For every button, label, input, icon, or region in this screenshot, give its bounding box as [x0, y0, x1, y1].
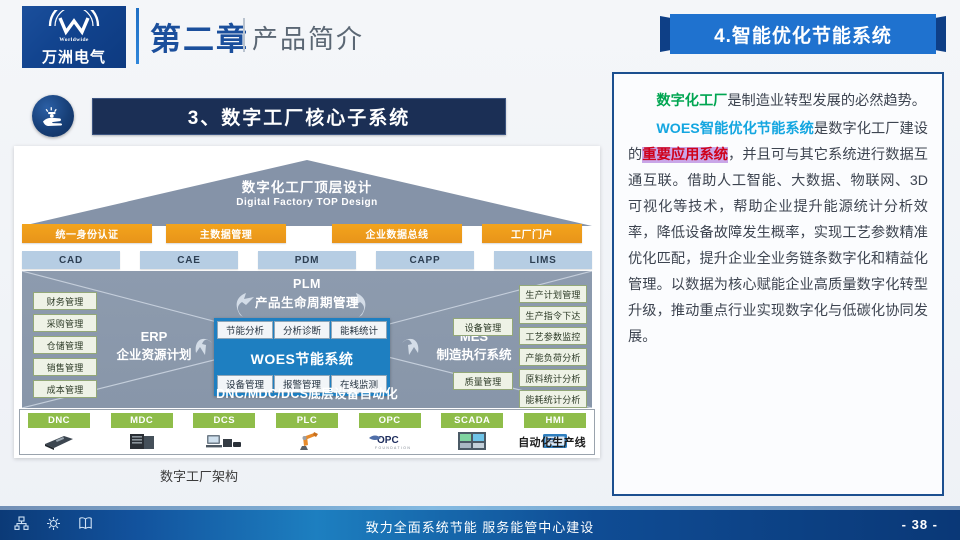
core-top-row: 节能分析 分析诊断 能耗统计 — [218, 322, 386, 338]
device-tag-1: MDC — [111, 413, 173, 428]
mes-inner-0: 设备管理 — [454, 319, 512, 335]
panel-p1-rest: 是制造业转型发展的必然趋势。 — [727, 93, 926, 109]
description-panel: 数字化工厂是制造业转型发展的必然趋势。 WOES智能优化节能系统是数字化工厂建设… — [612, 72, 944, 496]
core-chip-top-0: 节能分析 — [218, 322, 272, 338]
opc-logo-icon: OPC FOUNDATION — [359, 430, 421, 452]
app-item-0: CAD — [22, 251, 120, 269]
section-title-bar: 3、数字工厂核心子系统 — [92, 98, 506, 135]
diagram-roof: 数字化工厂顶层设计 Digital Factory TOP Design — [22, 160, 592, 226]
bottom-layer-label: DNC/MDC/DCS底层设备自动化 — [22, 383, 592, 402]
app-item-3: CAPP — [376, 251, 474, 269]
server-cabinet-icon — [111, 430, 173, 452]
factory-architecture-diagram: 数字化工厂顶层设计 Digital Factory TOP Design 统一身… — [14, 146, 600, 458]
plm-title: PLM — [22, 277, 592, 291]
mes-module-1: 生产指令下达 — [520, 307, 586, 323]
topic-badge: 4.智能优化节能系统 — [660, 14, 946, 54]
panel-p2-b: ，并且可与其它系统进行数据互通互联。借助人工智能、大数据、物联网、3D可视化等技… — [628, 147, 928, 345]
panel-highlight-green: 数字化工厂 — [656, 93, 727, 109]
roof-title-en: Digital Factory TOP Design — [22, 197, 592, 208]
footer-bar: 致力全面系统节能 服务能管中心建设 - 38 - — [0, 510, 960, 540]
chapter-label: 第二章 — [150, 14, 249, 59]
application-band: CAD CAE PDM CAPP LIMS — [22, 251, 592, 269]
plm-label: PLM 产品生命周期管理 — [22, 277, 592, 311]
panel-highlight-cyan: WOES智能优化节能系统 — [656, 121, 814, 137]
diagram-body: PLM 产品生命周期管理 ERP 企业资源计划 MES 制造执行系统 节能分析 … — [22, 271, 592, 408]
device-tag-4: OPC — [359, 413, 421, 428]
panel-highlight-red: 重要应用系统 — [642, 147, 728, 163]
band-item-3: 工厂门户 — [482, 224, 582, 243]
mes-module-2: 工艺参数监控 — [520, 328, 586, 344]
band-item-0: 统一身份认证 — [22, 224, 152, 243]
roof-title-cn: 数字化工厂顶层设计 — [22, 176, 592, 196]
device-tag-0: DNC — [28, 413, 90, 428]
badge-label: 4.智能优化节能系统 — [714, 21, 892, 48]
core-chip-top-1: 分析诊断 — [275, 322, 329, 338]
device-tag-3: PLC — [276, 413, 338, 428]
mes-module-0: 生产计划管理 — [520, 286, 586, 302]
robot-arm-icon — [276, 430, 338, 452]
device-layer-strip: DNC MDC DCS PLC OPC SCADA HMI — [20, 410, 594, 454]
app-item-4: LIMS — [494, 251, 592, 269]
erp-subtitle: 企业资源计划 — [108, 344, 200, 363]
slide-root: Worldwide 万洲电气 第二章 产品简介 4.智能优化节能系统 3、数字工… — [0, 0, 960, 540]
erp-module-1: 采购管理 — [34, 315, 96, 331]
device-image-row: OPC FOUNDATION — [28, 430, 586, 452]
mes-module-3: 产能负荷分析 — [520, 349, 586, 365]
erp-module-0: 财务管理 — [34, 293, 96, 309]
plm-subtitle: 产品生命周期管理 — [22, 292, 592, 311]
hand-holding-gear-icon — [32, 95, 74, 137]
erp-module-2: 仓储管理 — [34, 337, 96, 353]
device-tag-5: SCADA — [441, 413, 503, 428]
erp-title: ERP — [108, 329, 200, 344]
device-tag-2: DCS — [193, 413, 255, 428]
panel-paragraph-2: WOES智能优化节能系统是数字化工厂建设的重要应用系统，并且可与其它系统进行数据… — [628, 116, 928, 350]
erp-label: ERP 企业资源计划 — [108, 329, 200, 363]
diagram-caption: 数字工厂架构 — [14, 466, 384, 485]
w-arc-emblem-icon — [46, 10, 102, 36]
erp-module-3: 销售管理 — [34, 359, 96, 375]
core-chip-top-2: 能耗统计 — [332, 322, 386, 338]
svg-text:OPC: OPC — [377, 435, 399, 446]
device-tag-6: HMI — [524, 413, 586, 428]
app-item-2: PDM — [258, 251, 356, 269]
header-divider — [136, 8, 139, 64]
band-item-1: 主数据管理 — [166, 224, 286, 243]
svg-text:FOUNDATION: FOUNDATION — [375, 446, 411, 450]
chapter-separator — [243, 18, 245, 52]
page-title: 产品简介 — [252, 19, 364, 56]
mes-inner-column: 设备管理 质量管理 — [454, 319, 512, 389]
device-tag-row: DNC MDC DCS PLC OPC SCADA HMI — [28, 413, 586, 428]
core-title-label: WOES节能系统 — [214, 349, 390, 369]
control-room-icon — [441, 430, 503, 452]
erp-module-column: 财务管理 采购管理 仓储管理 销售管理 成本管理 — [34, 293, 96, 397]
section-title-label: 3、数字工厂核心子系统 — [188, 103, 411, 130]
footer-slogan: 致力全面系统节能 服务能管中心建设 — [0, 517, 960, 536]
workstation-icon — [193, 430, 255, 452]
company-logo: Worldwide 万洲电气 — [22, 6, 126, 68]
logo-company-name: 万洲电气 — [42, 46, 106, 67]
platform-service-band: 统一身份认证 主数据管理 企业数据总线 工厂门户 — [22, 224, 592, 243]
page-number: - 38 - — [902, 517, 938, 532]
app-item-1: CAE — [140, 251, 238, 269]
production-line-label: 自动化生产线 — [518, 434, 586, 450]
logo-latin-text: Worldwide — [59, 37, 89, 43]
band-item-2: 企业数据总线 — [332, 224, 462, 243]
panel-paragraph-1: 数字化工厂是制造业转型发展的必然趋势。 — [628, 88, 928, 114]
controller-box-icon — [28, 430, 90, 452]
